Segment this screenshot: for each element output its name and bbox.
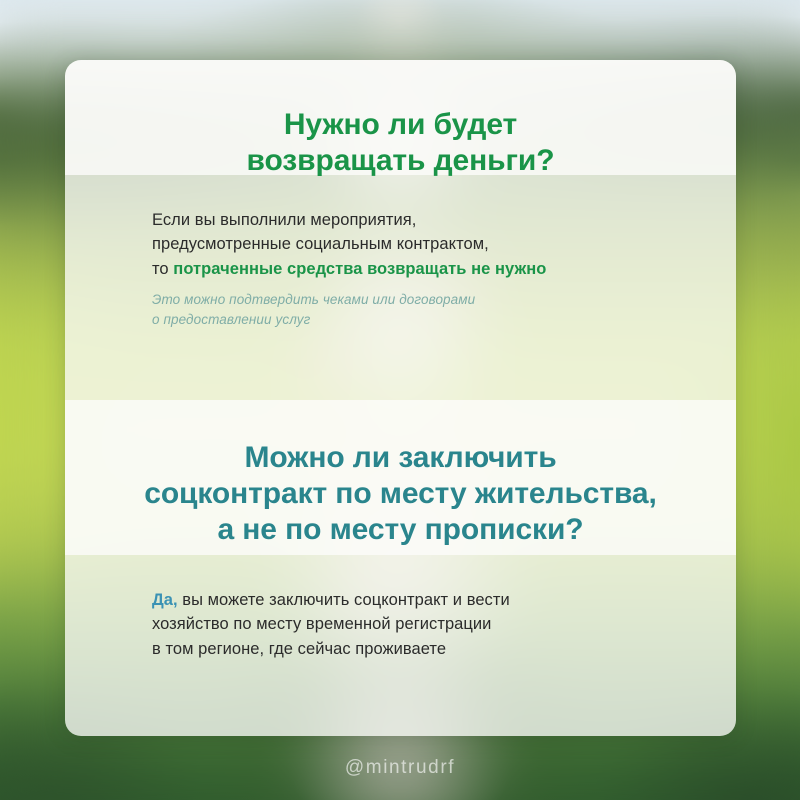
question-2-heading-line-1: Можно ли заключить	[65, 440, 736, 476]
faq-card: Нужно ли будет возвращать деньги? Если в…	[65, 60, 736, 736]
question-2-answer-emphasis: Да,	[152, 591, 178, 609]
question-2-heading-line-3: а не по месту прописки?	[65, 512, 736, 548]
question-2-heading-line-2: соцконтракт по месту жительства,	[65, 476, 736, 512]
infographic-card-screenshot: Нужно ли будет возвращать деньги? Если в…	[0, 0, 800, 800]
question-1-answer-line-2: предусмотренные социальным контрактом,	[152, 232, 546, 256]
question-1-answer: Если вы выполнили мероприятия, предусмот…	[152, 208, 546, 281]
question-1-answer-line-3: то потраченные средства возвращать не ну…	[152, 257, 546, 281]
question-2-answer-line-1: Да, вы можете заключить соцконтракт и ве…	[152, 588, 510, 612]
question-1-note-line-1: Это можно подтвердить чеками или договор…	[152, 290, 475, 310]
question-2-answer-line-3: в том регионе, где сейчас проживаете	[152, 637, 510, 661]
question-1-note: Это можно подтвердить чеками или договор…	[152, 290, 475, 329]
question-2-answer-line-1-rest: вы можете заключить соцконтракт и вести	[178, 591, 510, 609]
question-1-heading: Нужно ли будет возвращать деньги?	[65, 107, 736, 179]
question-2-answer-line-2: хозяйство по месту временной регистрации	[152, 612, 510, 636]
question-2-answer: Да, вы можете заключить соцконтракт и ве…	[152, 588, 510, 661]
question-2-heading: Можно ли заключить соцконтракт по месту …	[65, 440, 736, 548]
question-1-note-line-2: о предоставлении услуг	[152, 310, 475, 330]
watermark-handle: @mintrudrf	[0, 757, 800, 779]
question-1-answer-line-1: Если вы выполнили мероприятия,	[152, 208, 546, 232]
question-1-heading-line-2: возвращать деньги?	[65, 143, 736, 179]
question-1-answer-emphasis: потраченные средства возвращать не нужно	[173, 260, 546, 278]
question-1-heading-line-1: Нужно ли будет	[65, 107, 736, 143]
question-1-answer-line-3-prefix: то	[152, 260, 173, 278]
